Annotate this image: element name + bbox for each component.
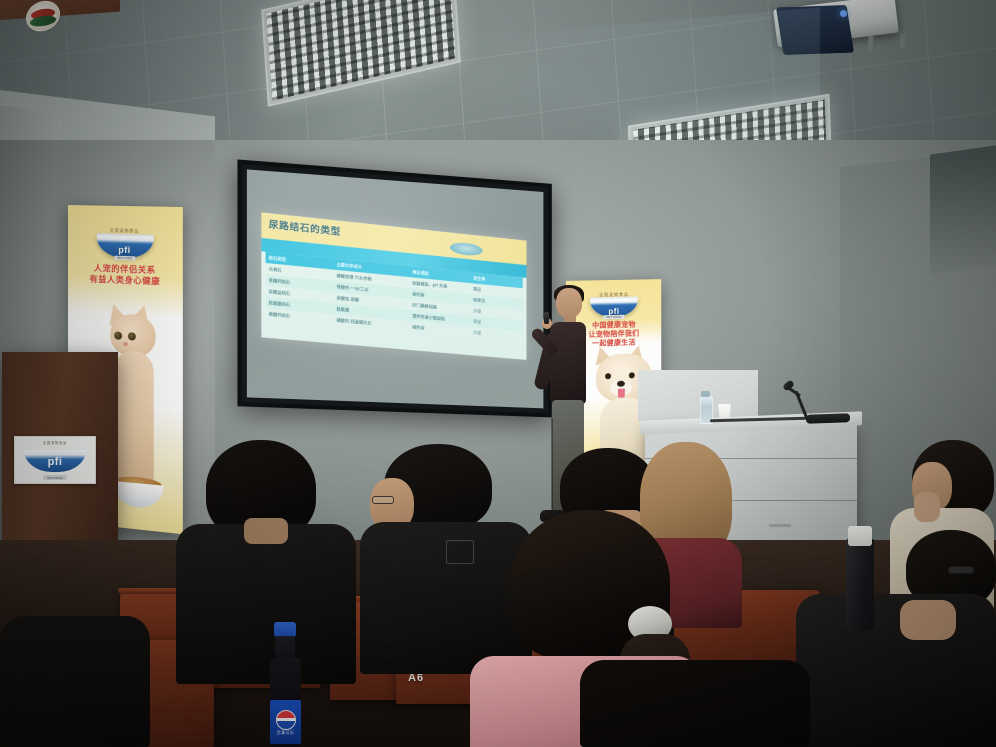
pepsi-bottle: 百事可乐 <box>268 622 303 747</box>
attendee-hand <box>900 600 956 640</box>
attendee-hand <box>914 492 940 522</box>
handheld-microphone <box>544 312 549 324</box>
cat-eye <box>114 331 122 339</box>
presenter-head <box>556 288 582 318</box>
projector-mount-arm <box>900 34 906 48</box>
pfi-bowl-logo-icon: pfi <box>24 448 86 472</box>
cat-eye <box>128 332 136 340</box>
projection-screen-surface: 尿路结石的类型 结石类型 主要化学成分 常见诱因 发生率 鸟粪石 磷酸铵镁·六水… <box>247 169 544 408</box>
attendee-foreground-center <box>580 660 810 747</box>
thermos-cap <box>848 526 872 546</box>
attendee-body <box>176 524 356 684</box>
cat-nose <box>123 342 128 346</box>
banner-slogan-line2: 让宠物陪伴我们 <box>589 330 640 338</box>
eyeglasses <box>948 566 974 574</box>
table-cell: 磷酸钙结石 <box>266 311 334 323</box>
pfi-wordmark: pfi <box>48 456 63 468</box>
pepsi-wordmark: 百事可乐 <box>268 730 303 736</box>
eyeglasses <box>372 496 394 504</box>
cat-body <box>114 349 153 492</box>
bottle-neck <box>275 636 295 660</box>
food-bowl <box>112 481 163 510</box>
projector-indicator-led <box>840 10 847 17</box>
table-cell: 少见 <box>470 329 522 340</box>
cabinet-upper-section <box>638 370 758 422</box>
banner-slogan: 人宠的伴侣关系 有益人类身心健康 <box>89 263 160 287</box>
bowl-subtitle: PET FOOD <box>603 315 624 320</box>
sign-subtitle: PET FOOD <box>43 475 66 480</box>
attendee-body <box>796 594 996 747</box>
paper-cup <box>718 404 731 420</box>
microphone-base <box>806 413 850 424</box>
bottle-cap <box>701 391 710 397</box>
sign-top-line: 全国宠物食品 <box>43 440 67 445</box>
bowl-subtitle: PET FOOD <box>114 256 135 261</box>
lecture-hall-photo: 尿路结石的类型 结石类型 主要化学成分 常见诱因 发生率 鸟粪石 磷酸铵镁·六水… <box>0 0 996 747</box>
attendee-right-dark <box>796 530 996 747</box>
table-cell: 碱性尿 <box>409 324 470 335</box>
banner-slogan-line2: 有益人类身心健康 <box>89 273 160 286</box>
lectern-podium: 全国宠物食品 pfi PET FOOD <box>2 352 118 550</box>
podium-sign: 全国宠物食品 pfi PET FOOD <box>14 436 96 484</box>
projection-screen: 尿路结石的类型 结石类型 主要化学成分 常见诱因 发生率 鸟粪石 磷酸铵镁·六水… <box>237 159 551 417</box>
bottle-cap <box>274 622 296 637</box>
attendee-foreground-left <box>0 596 150 747</box>
pepsi-globe-logo-icon <box>276 710 296 730</box>
attendee-neck <box>244 518 288 544</box>
cabinet-handle[interactable] <box>769 524 791 527</box>
attendee-body <box>580 660 810 747</box>
black-thermos-flask <box>846 538 874 630</box>
attendee-body <box>0 616 150 747</box>
pfi-wordmark: pfi <box>118 245 130 255</box>
banner-slogan-line1: 中国健康宠物 <box>592 321 635 329</box>
